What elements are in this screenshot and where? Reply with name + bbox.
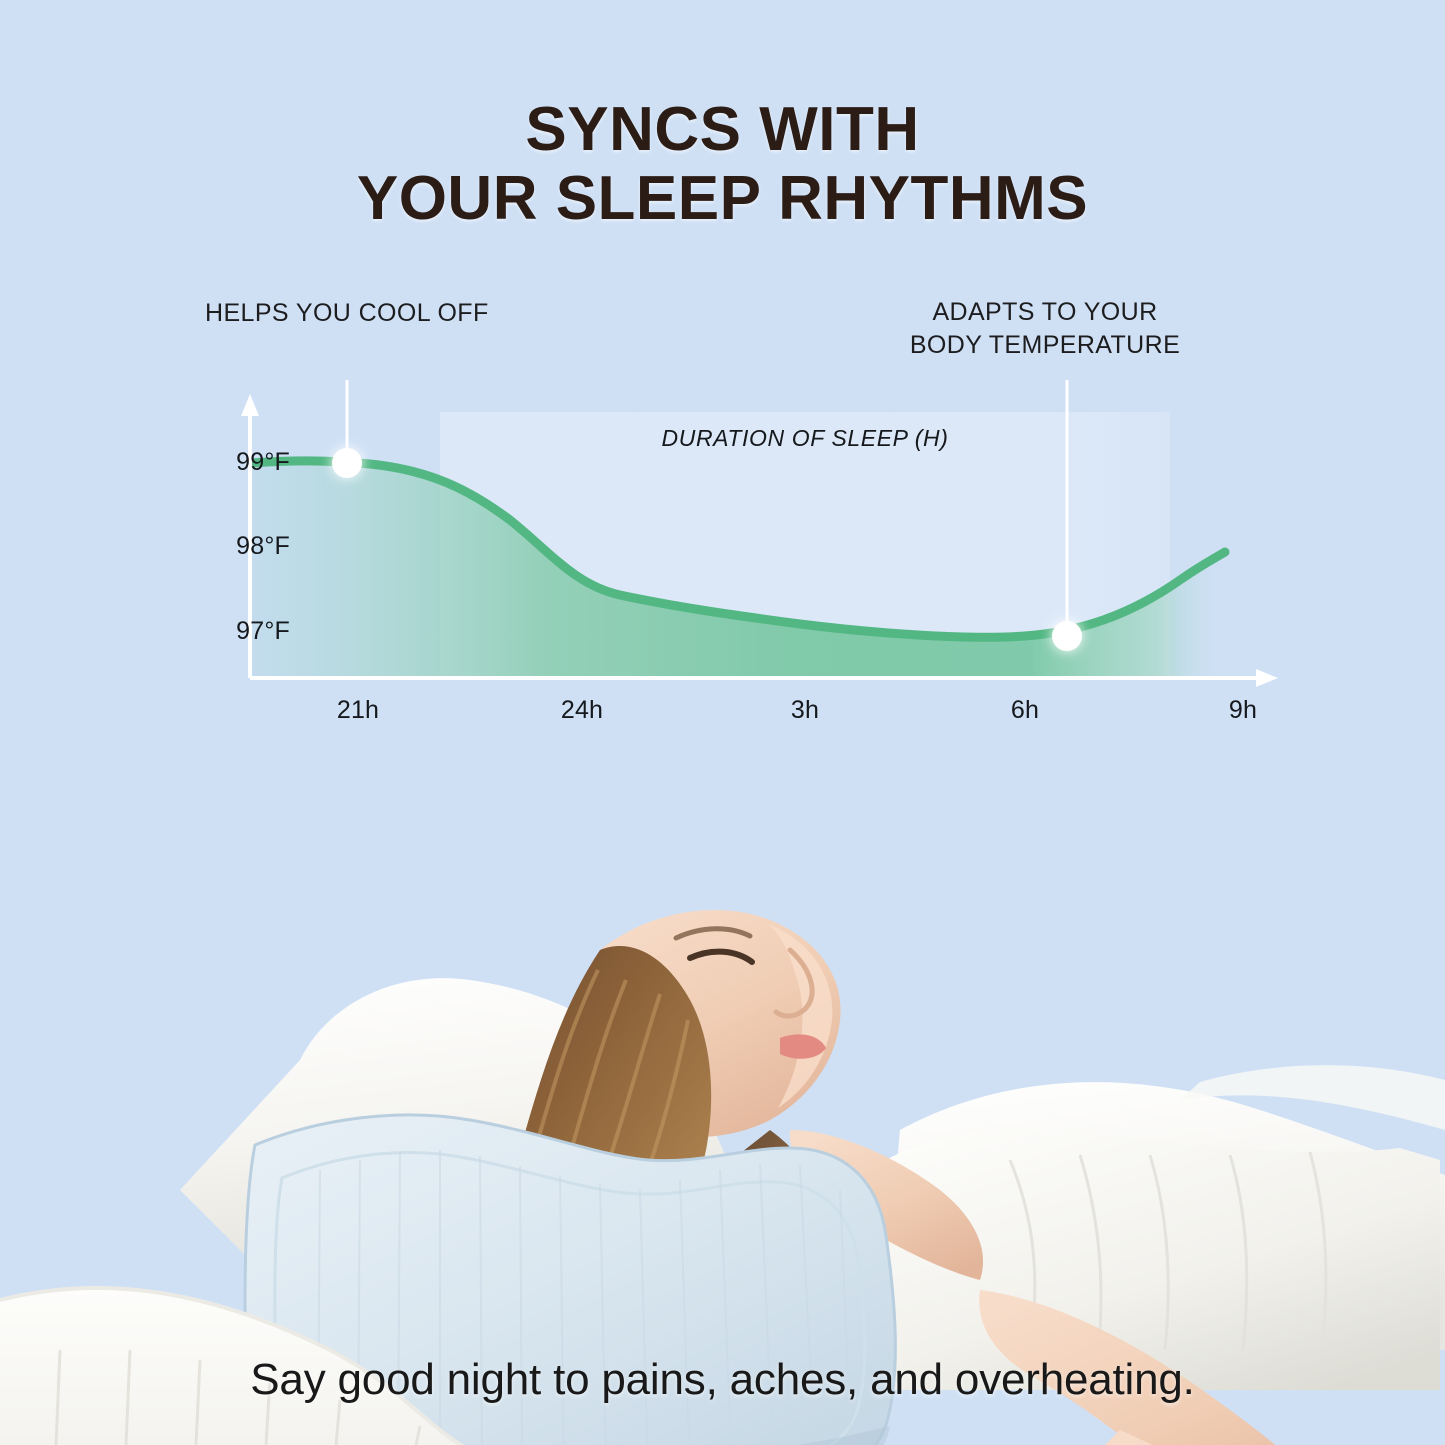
promo-graphic: SYNCS WITH YOUR SLEEP RHYTHMS HELPS YOU …: [0, 0, 1445, 1445]
x-tick-3h: 3h: [750, 696, 860, 725]
x-tick-9h: 9h: [1188, 696, 1298, 725]
headline-line-1: SYNCS WITH: [525, 95, 919, 164]
y-axis-arrow: [241, 394, 259, 416]
headline-line-2: YOUR SLEEP RHYTHMS: [0, 164, 1445, 233]
y-tick-98: 98°F: [180, 532, 290, 561]
sleep-duration-annotation: DURATION OF SLEEP (H): [640, 425, 970, 452]
page-title: SYNCS WITH YOUR SLEEP RHYTHMS: [0, 95, 1445, 234]
y-tick-97: 97°F: [180, 617, 290, 646]
x-axis-arrow: [1256, 669, 1278, 687]
x-tick-6h: 6h: [970, 696, 1080, 725]
y-tick-99: 99°F: [180, 448, 290, 477]
x-tick-24h: 24h: [527, 696, 637, 725]
marker-cool-off: [332, 448, 362, 478]
product-photo: [0, 830, 1445, 1445]
callout-label-cool-off: HELPS YOU COOL OFF: [205, 297, 489, 330]
callout-label-adapts: ADAPTS TO YOUR BODY TEMPERATURE: [885, 296, 1205, 361]
marker-adapts: [1052, 621, 1082, 651]
caption-text: Say good night to pains, aches, and over…: [0, 1355, 1445, 1405]
x-tick-21h: 21h: [303, 696, 413, 725]
